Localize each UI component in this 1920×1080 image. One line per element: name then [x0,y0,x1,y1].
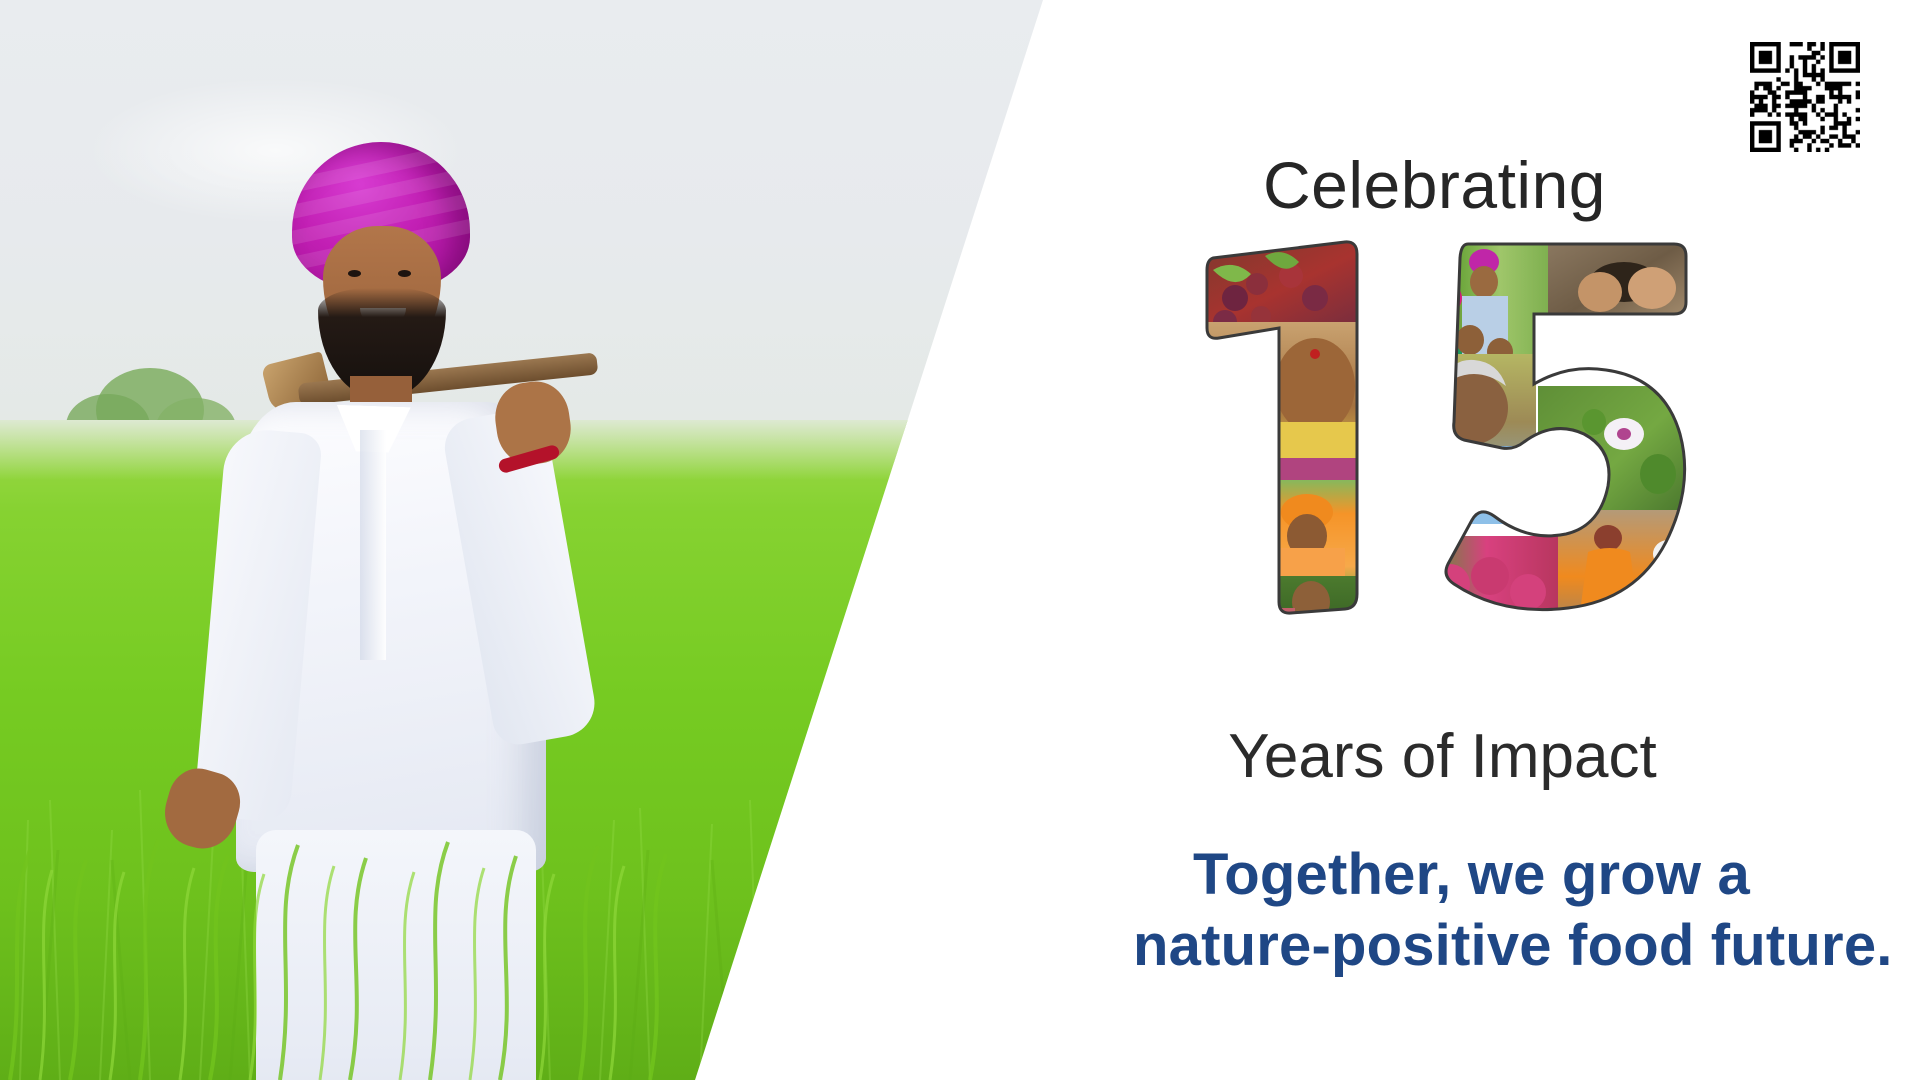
kurta-placket [360,430,386,660]
eye-right [398,270,411,277]
numeral-one-shape [1195,236,1410,631]
numeral-one [1195,236,1410,631]
tagline-line-1: Together, we grow a [1133,840,1810,911]
qr-code[interactable] [1746,38,1864,156]
tagline-line-2: nature-positive food future. [1133,911,1810,982]
milestone-number-15 [1043,236,1920,636]
headline-celebrating: Celebrating [1043,152,1920,218]
foreground-grass [0,700,1060,1080]
poster-canvas: Celebrating [0,0,1920,1080]
numeral-five [1428,236,1696,631]
subhead-years-of-impact: Years of Impact [1043,726,1920,788]
qr-code-image [1750,42,1860,152]
numeral-five-shape [1428,236,1696,631]
hero-photo [0,0,1060,1080]
tagline: Together, we grow a nature-positive food… [1043,840,1920,982]
eye-left [348,270,361,277]
content-panel: Celebrating [1043,0,1920,1080]
